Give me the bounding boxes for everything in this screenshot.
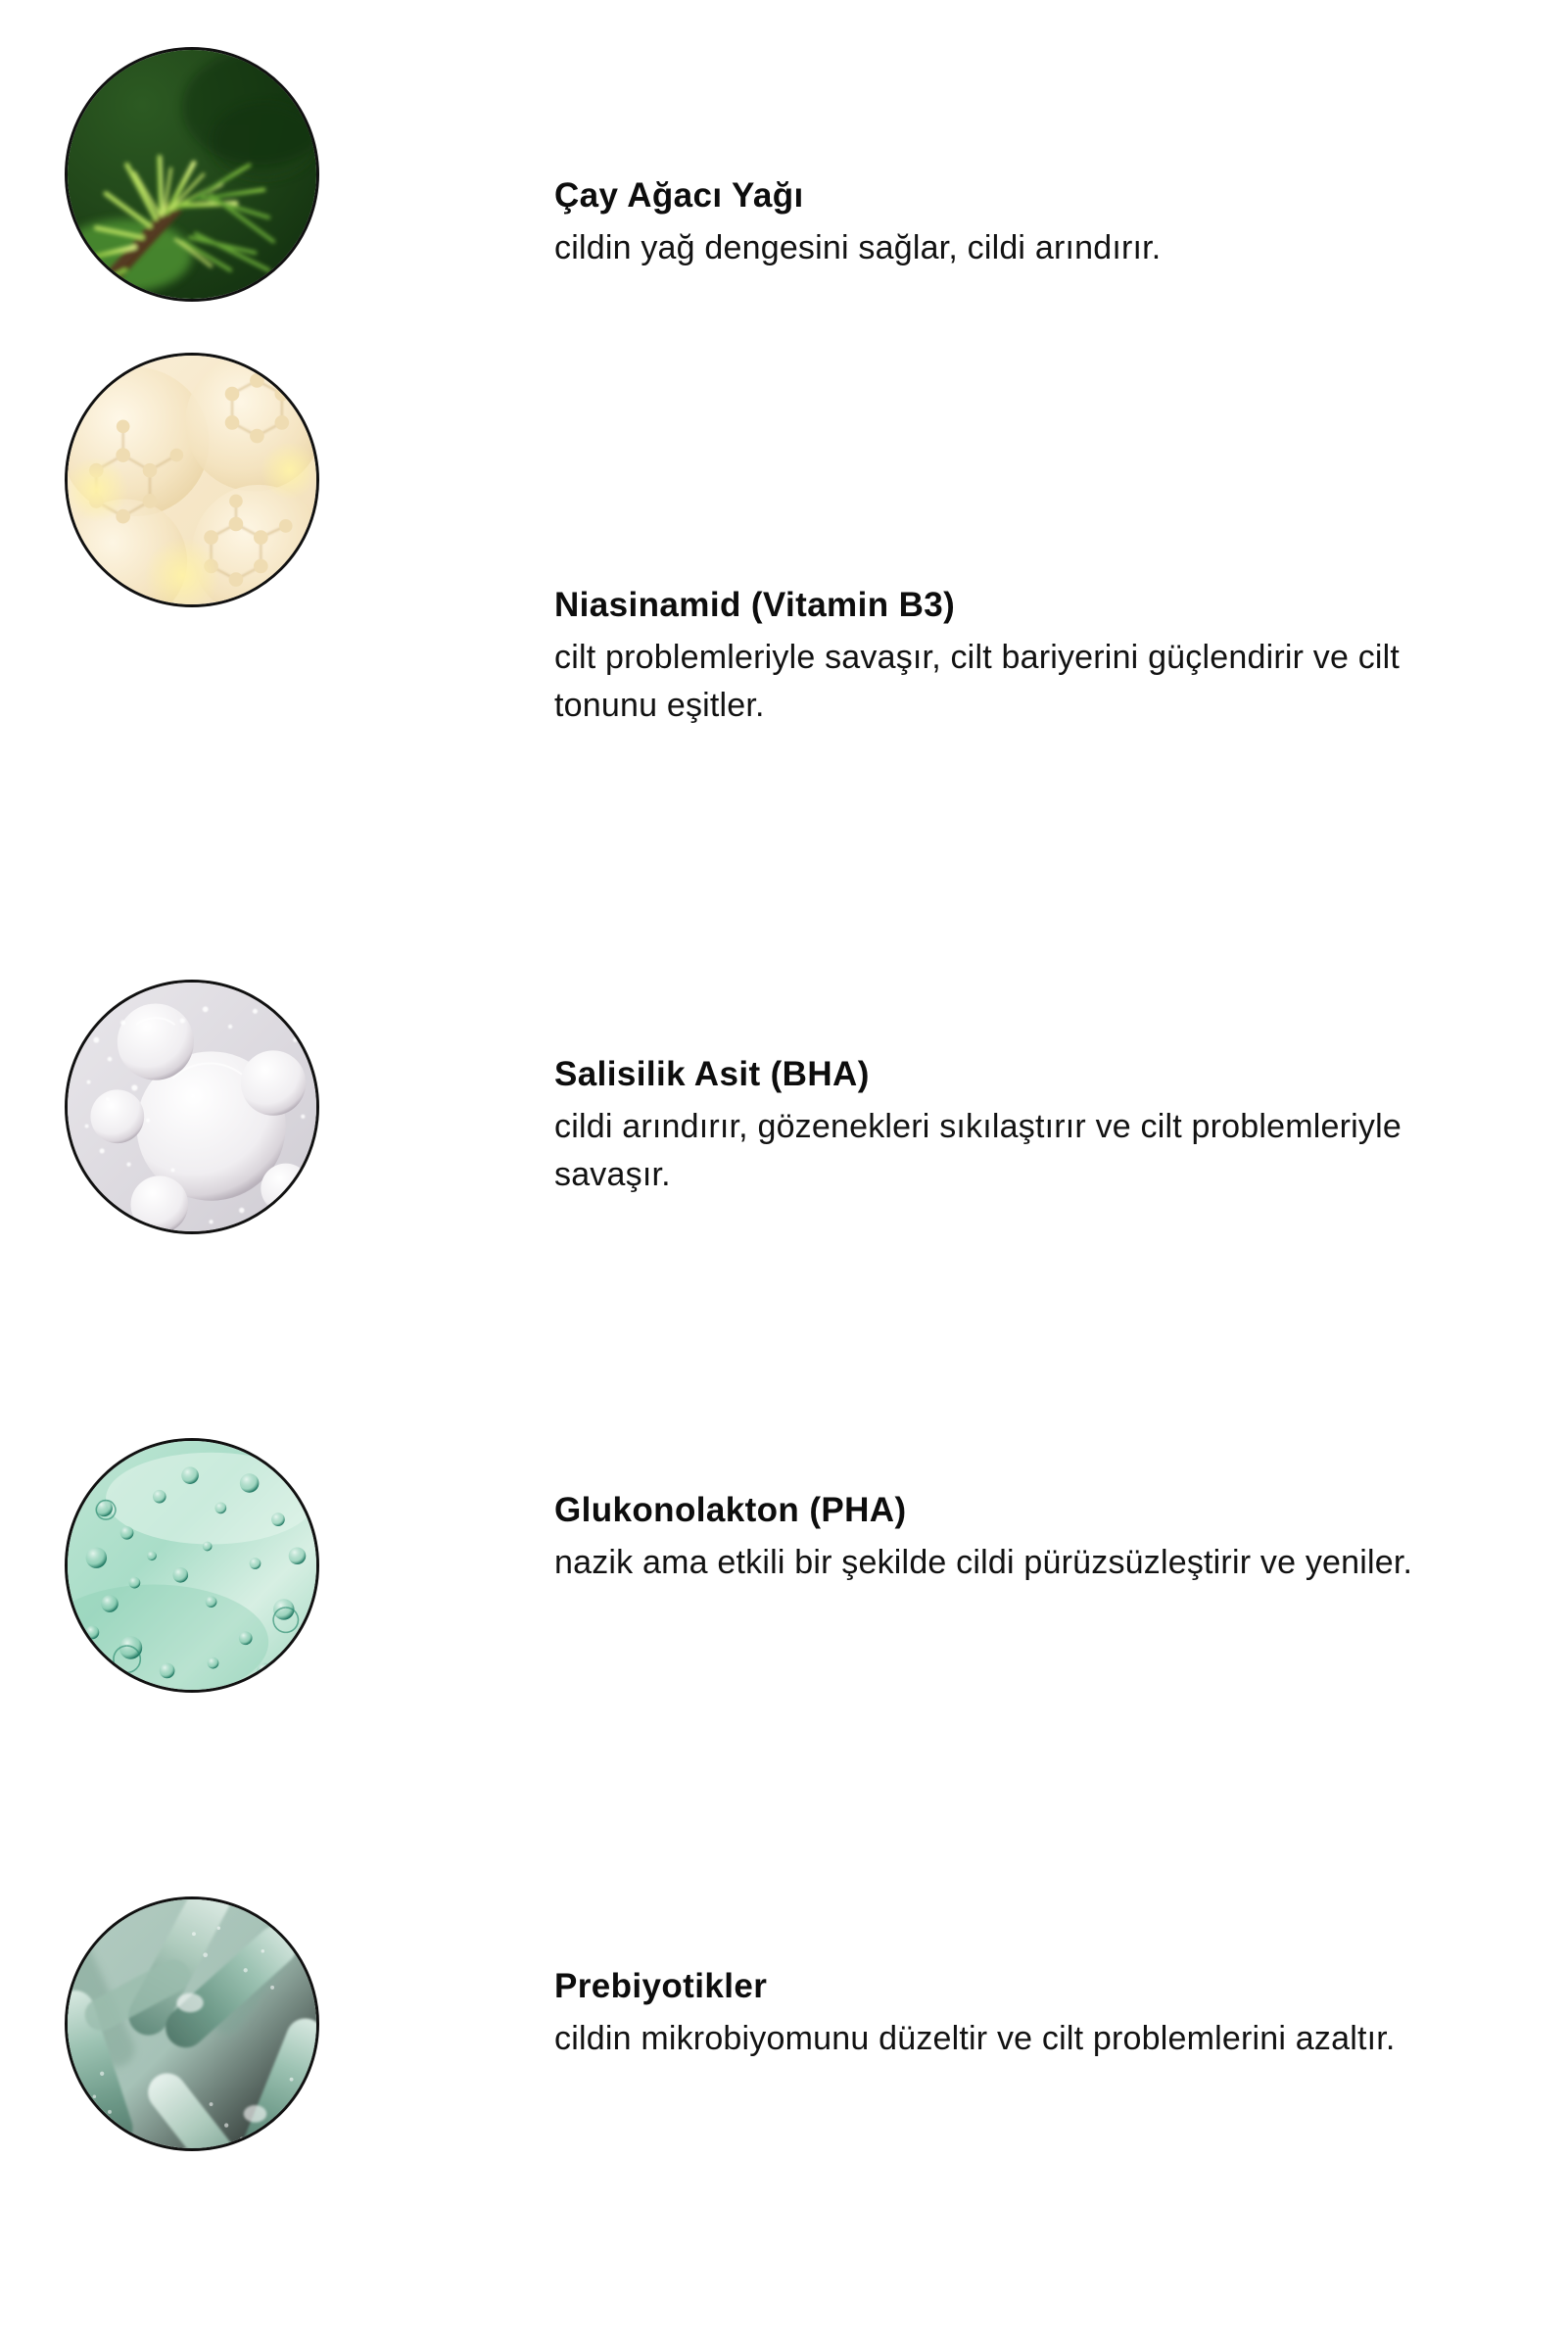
- ingredients-infographic: Çay Ağacı Yağı cildin yağ dengesini sağl…: [0, 0, 1568, 2352]
- ingredient-text-prebiyotikler: Prebiyotikler cildin mikrobiyomunu düzel…: [554, 1965, 1475, 2063]
- ingredient-title: Çay Ağacı Yağı: [554, 174, 1475, 218]
- ingredient-description: nazik ama etkili bir şekilde cildi pürüz…: [554, 1539, 1436, 1587]
- ingredient-image-cay-agaci-yagi: [65, 47, 319, 302]
- tea-tree-branch-photo: [68, 50, 316, 299]
- ingredient-title: Glukonolakton (PHA): [554, 1489, 1475, 1533]
- ingredient-image-niasinamid: [65, 353, 319, 607]
- niacinamide-molecules-photo: [68, 356, 316, 604]
- ingredient-text-niasinamid: Niasinamid (Vitamin B3) cilt problemleri…: [554, 584, 1475, 730]
- ingredient-text-cay-agaci-yagi: Çay Ağacı Yağı cildin yağ dengesini sağl…: [554, 174, 1475, 272]
- gluconolactone-green-gel-photo: [68, 1441, 316, 1690]
- ingredient-image-salisilik-asit: [65, 980, 319, 1234]
- salicylic-acid-bubbles-photo: [68, 983, 316, 1231]
- ingredient-title: Niasinamid (Vitamin B3): [554, 584, 1475, 628]
- ingredient-text-glukonolakton: Glukonolakton (PHA) nazik ama etkili bir…: [554, 1489, 1475, 1587]
- ingredient-title: Prebiyotikler: [554, 1965, 1475, 2009]
- ingredient-description: cildin mikrobiyomunu düzeltir ve cilt pr…: [554, 2015, 1436, 2063]
- ingredient-description: cilt problemleriyle savaşır, cilt bariye…: [554, 634, 1436, 730]
- ingredient-text-salisilik-asit: Salisilik Asit (BHA) cildi arındırır, gö…: [554, 1053, 1475, 1199]
- ingredient-image-glukonolakton: [65, 1438, 319, 1693]
- ingredient-description: cildin yağ dengesini sağlar, cildi arınd…: [554, 224, 1436, 272]
- ingredient-description: cildi arındırır, gözenekleri sıkılaştırı…: [554, 1103, 1436, 1199]
- ingredient-title: Salisilik Asit (BHA): [554, 1053, 1475, 1097]
- ingredient-image-prebiyotikler: [65, 1896, 319, 2151]
- prebiotics-bacteria-render: [68, 1899, 316, 2148]
